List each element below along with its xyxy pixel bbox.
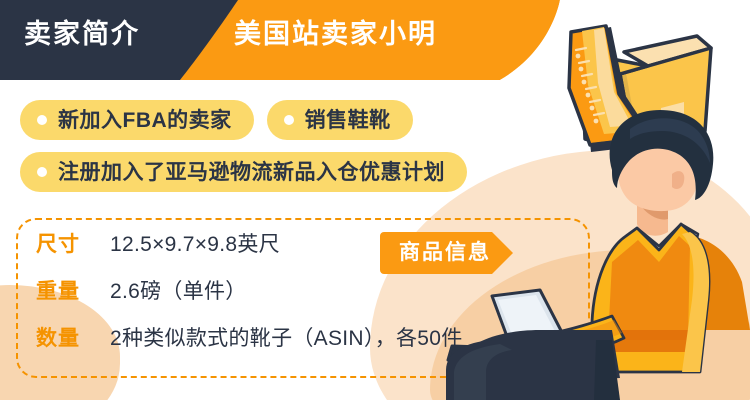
info-row-label: 尺寸 <box>36 228 98 258</box>
tag-row-primary: 新加入FBA的卖家 销售鞋靴 <box>20 100 413 140</box>
tag-chip-label: 销售鞋靴 <box>305 110 391 131</box>
info-row-value: 12.5×9.7×9.8英尺 <box>110 228 280 258</box>
info-row-weight: 重量 2.6磅（单件） <box>36 275 576 322</box>
info-row-value: 2种类似款式的靴子（ASIN），各50件 <box>110 322 463 352</box>
bullet-dot-icon <box>37 167 47 177</box>
tag-chip-label: 注册加入了亚马逊物流新品入仓优惠计划 <box>58 162 445 183</box>
tag-chip-1[interactable]: 销售鞋靴 <box>267 100 413 140</box>
info-row-label: 重量 <box>36 275 98 305</box>
header-banner: 卖家简介 美国站卖家小明 <box>0 0 750 80</box>
bullet-dot-icon <box>37 115 47 125</box>
tag-chip-label: 新加入FBA的卖家 <box>58 110 232 131</box>
infographic-card: 卖家简介 美国站卖家小明 新加入FBA的卖家 销售鞋靴 注册加入了亚马逊物流新品… <box>0 0 750 400</box>
bullet-dot-icon <box>284 115 294 125</box>
product-info-badge: 商品信息 <box>380 232 515 274</box>
page-title-left: 卖家简介 <box>24 16 140 52</box>
page-title-right: 美国站卖家小明 <box>234 16 437 52</box>
tag-row-secondary: 注册加入了亚马逊物流新品入仓优惠计划 <box>20 152 467 192</box>
info-row-value: 2.6磅（单件） <box>110 275 247 305</box>
tag-chip-2[interactable]: 注册加入了亚马逊物流新品入仓优惠计划 <box>20 152 467 192</box>
tag-chip-0[interactable]: 新加入FBA的卖家 <box>20 100 254 140</box>
info-row-label: 数量 <box>36 322 98 352</box>
product-info-badge-label: 商品信息 <box>392 240 498 266</box>
info-row-quantity: 数量 2种类似款式的靴子（ASIN），各50件 <box>36 322 576 369</box>
